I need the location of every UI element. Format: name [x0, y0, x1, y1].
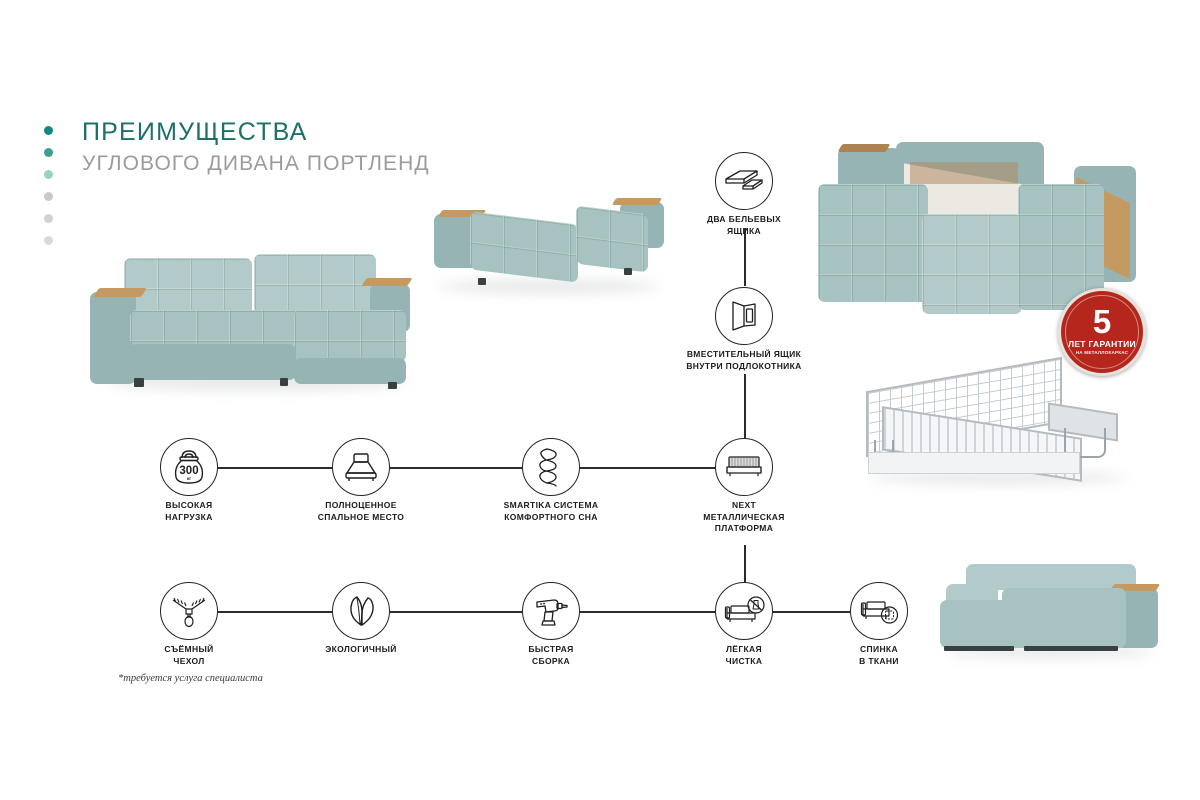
page-subtitle: УГЛОВОГО ДИВАНА ПОРТЛЕНД — [82, 152, 430, 176]
node-armrest-box[interactable]: ВМЕСТИТЕЛЬНЫЙ ЯЩИК ВНУТРИ ПОДЛОКОТНИКА — [715, 287, 773, 345]
node-label: ПОЛНОЦЕННОЕ СПАЛЬНОЕ МЕСТО — [318, 500, 405, 523]
warranty-label: ЛЕТ ГАРАНТИИ — [1068, 339, 1136, 349]
bed-icon — [332, 438, 390, 496]
node-label: NEXT МЕТАЛЛИЧЕСКАЯ ПЛАТФОРМА — [703, 500, 784, 535]
sofa-back-icon — [850, 582, 908, 640]
metal-platform-sofa-icon — [715, 438, 773, 496]
node-storage-boxes[interactable]: ДВА БЕЛЬЕВЫХ ЯЩИКА — [715, 152, 773, 210]
node-label: БЫСТРАЯ СБОРКА — [528, 644, 573, 667]
infographic-page: ПРЕИМУЩЕСТВА УГЛОВОГО ДИВАНА ПОРТЛЕНД — [0, 0, 1200, 800]
warranty-years: 5 — [1093, 307, 1111, 337]
accent-dot — [44, 214, 53, 223]
node-easy-cleaning[interactable]: ЛЁГКАЯ ЧИСТКА — [715, 582, 773, 640]
weight-icon: 300 кг — [160, 438, 218, 496]
node-eco-friendly[interactable]: ЭКОЛОГИЧНЫЙ — [332, 582, 390, 640]
node-high-load[interactable]: 300 кг ВЫСОКАЯ НАГРУЗКА — [160, 438, 218, 496]
sofa-unfolded-photo — [424, 196, 674, 296]
node-label: ЭКОЛОГИЧНЫЙ — [325, 644, 397, 656]
two-drawers-icon — [715, 152, 773, 210]
accent-dot-column — [44, 126, 58, 258]
warranty-sublabel: НА МЕТАЛЛОКАРКАС — [1076, 350, 1128, 355]
node-full-bed[interactable]: ПОЛНОЦЕННОЕ СПАЛЬНОЕ МЕСТО — [332, 438, 390, 496]
node-label: SMARTIKA СИСТЕМА КОМФОРТНОГО СНА — [504, 500, 599, 523]
connector-line-horizontal — [580, 611, 715, 613]
node-fast-assembly[interactable]: БЫСТРАЯ СБОРКА — [522, 582, 580, 640]
accent-dot — [44, 148, 53, 157]
connector-line-horizontal — [390, 611, 522, 613]
node-fabric-back[interactable]: СПИНКА В ТКАНИ — [850, 582, 908, 640]
node-label: СПИНКА В ТКАНИ — [859, 644, 899, 667]
armrest-box-icon — [715, 287, 773, 345]
accent-dot — [44, 170, 53, 179]
corner-sofa-front-photo — [88, 248, 418, 393]
spring-icon — [522, 438, 580, 496]
connector-line-horizontal — [390, 467, 522, 469]
warranty-badge: 5 ЛЕТ ГАРАНТИИ НА МЕТАЛЛОКАРКАС — [1058, 288, 1146, 376]
zipper-icon — [160, 582, 218, 640]
accent-dot — [44, 236, 53, 245]
accent-dot — [44, 126, 53, 135]
connector-line-horizontal — [773, 611, 850, 613]
connector-line-horizontal — [218, 611, 332, 613]
node-removable-cover[interactable]: СЪЁМНЫЙ ЧЕХОЛ — [160, 582, 218, 640]
node-label: ВМЕСТИТЕЛЬНЫЙ ЯЩИК ВНУТРИ ПОДЛОКОТНИКА — [686, 349, 801, 372]
cleaning-sofa-icon — [715, 582, 773, 640]
node-label: ДВА БЕЛЬЕВЫХ ЯЩИКА — [707, 214, 781, 237]
metal-frame-photo — [852, 368, 1152, 486]
node-label: ЛЁГКАЯ ЧИСТКА — [726, 644, 763, 667]
node-smartika[interactable]: SMARTIKA СИСТЕМА КОМФОРТНОГО СНА — [522, 438, 580, 496]
page-title: ПРЕИМУЩЕСТВА — [82, 118, 308, 147]
weight-unit: кг — [187, 476, 191, 481]
connector-line-vertical — [744, 374, 746, 438]
drill-icon — [522, 582, 580, 640]
leaf-icon — [332, 582, 390, 640]
node-label: ВЫСОКАЯ НАГРУЗКА — [165, 500, 212, 523]
node-label: СЪЁМНЫЙ ЧЕХОЛ — [164, 644, 213, 667]
footnote-text: *требуется услуга специалиста — [118, 673, 263, 684]
accent-dot — [44, 192, 53, 201]
connector-line-horizontal — [580, 467, 715, 469]
sofa-back-view-photo — [930, 560, 1170, 660]
node-next-platform[interactable]: NEXT МЕТАЛЛИЧЕСКАЯ ПЛАТФОРМА — [715, 438, 773, 496]
connector-line-horizontal — [218, 467, 332, 469]
